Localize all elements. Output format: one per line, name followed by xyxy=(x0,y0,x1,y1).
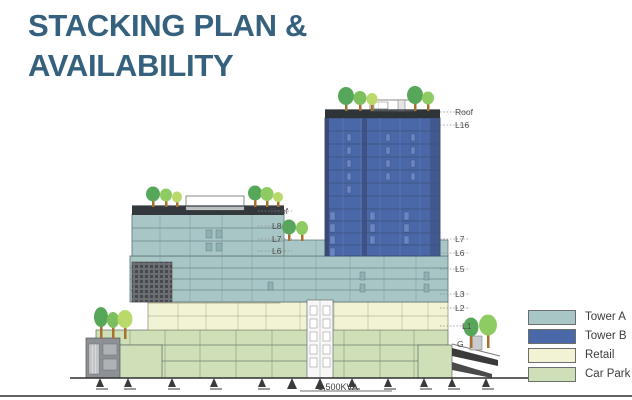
floor-label-l5: L5 xyxy=(455,265,464,274)
car-park-levels xyxy=(96,330,452,378)
legend-label-car-park: Car Park xyxy=(585,368,630,380)
legend-item-tower-b[interactable]: Tower B xyxy=(528,327,632,345)
floor-label-l1: L1 xyxy=(462,322,471,331)
legend-label-tower-a: Tower A xyxy=(585,311,626,323)
floor-label-roof-b: Roof xyxy=(455,108,473,117)
power-rating-label: 1,500KVA xyxy=(318,382,358,392)
floor-label-l7-b: L7 xyxy=(455,235,464,244)
legend-label-tower-b: Tower B xyxy=(585,330,627,342)
legend-label-retail: Retail xyxy=(585,349,614,361)
legend-swatch-tower-b xyxy=(528,329,576,344)
legend-item-retail[interactable]: Retail xyxy=(528,346,632,364)
circulation-core xyxy=(307,300,333,378)
floor-label-ground: G xyxy=(457,340,464,349)
legend: Tower A Tower B Retail Car Park xyxy=(528,308,632,384)
legend-swatch-car-park xyxy=(528,367,576,382)
floor-label-l7-a: L7 xyxy=(272,235,281,244)
legend-swatch-tower-a xyxy=(528,310,576,325)
tower-b-levels xyxy=(325,118,440,256)
legend-swatch-retail xyxy=(528,348,576,363)
floor-label-l2: L2 xyxy=(455,304,464,313)
legend-item-tower-a[interactable]: Tower A xyxy=(528,308,632,326)
floor-label-l8-a: L8 xyxy=(272,222,281,231)
floor-label-l6-b: L6 xyxy=(455,249,464,258)
floor-label-l3: L3 xyxy=(455,290,464,299)
legend-item-car-park[interactable]: Car Park xyxy=(528,365,632,383)
floor-label-l6-a: L6 xyxy=(272,247,281,256)
floor-label-l16: L16 xyxy=(455,121,469,130)
floor-label-roof-a: Roof xyxy=(270,207,288,216)
stacking-plan-page: STACKING PLAN & AVAILABILITY xyxy=(0,0,632,400)
left-service-block xyxy=(86,338,120,378)
